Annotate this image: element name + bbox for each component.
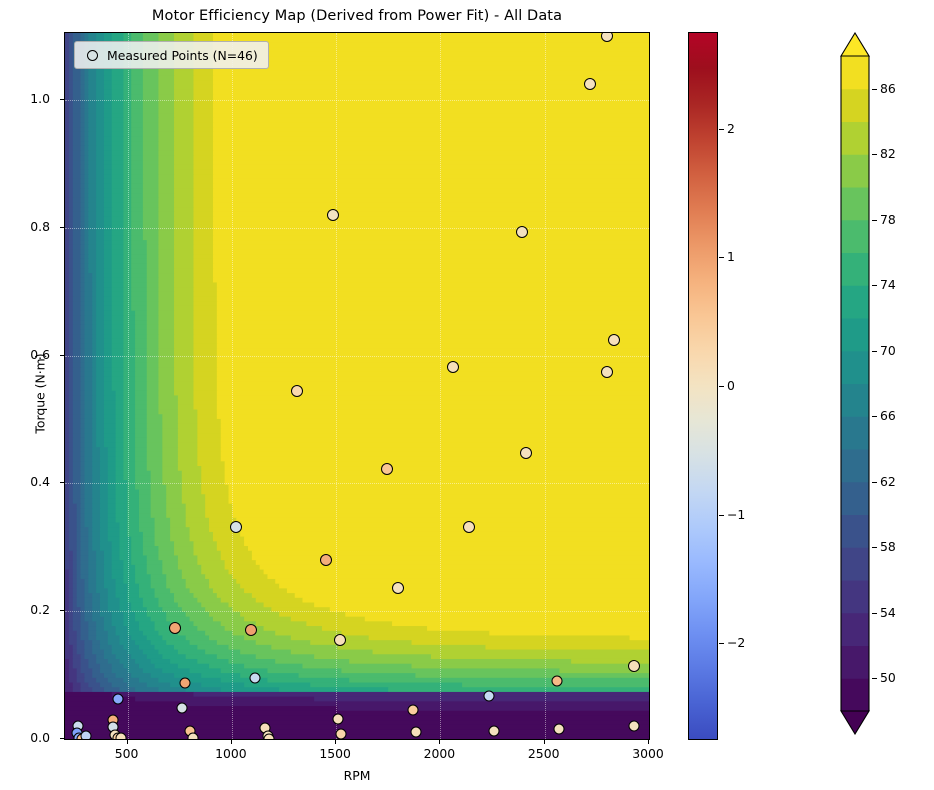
scatter-point <box>463 521 475 533</box>
x-axis-tick <box>335 740 336 744</box>
scatter-point <box>245 624 257 636</box>
colorbar-error-tick <box>719 386 724 387</box>
plot-area: Measured Points (N=46) <box>64 32 650 740</box>
y-axis-tick-label: 1.0 <box>0 91 50 106</box>
scatter-point <box>554 723 565 734</box>
colorbar-efficiency-tick-label: 58 <box>880 539 896 554</box>
legend-label: Measured Points (N=46) <box>107 48 258 63</box>
x-axis-tick-label: 1000 <box>201 746 261 761</box>
colorbar-efficiency-tick <box>872 547 877 548</box>
figure-canvas: Motor Efficiency Map (Derived from Power… <box>0 0 934 790</box>
scatter-point <box>608 334 620 346</box>
scatter-point <box>249 673 260 684</box>
scatter-point <box>327 209 339 221</box>
colorbar-efficiency-tick-label: 50 <box>880 670 896 685</box>
scatter-point <box>520 447 532 459</box>
colorbar-efficiency-tick <box>872 613 877 614</box>
efficiency-contour-field <box>65 33 649 739</box>
colorbar-error-gradient <box>689 33 717 739</box>
colorbar-efficiency-tick <box>872 416 877 417</box>
colorbar-efficiency-tick <box>872 89 877 90</box>
x-axis-tick <box>648 740 649 744</box>
scatter-point <box>392 582 404 594</box>
y-axis-tick <box>60 99 64 100</box>
scatter-point <box>601 366 613 378</box>
x-axis-tick-label: 500 <box>97 746 157 761</box>
colorbar-efficiency-tick-label: 66 <box>880 408 896 423</box>
colorbar-efficiency-tick-label: 70 <box>880 343 896 358</box>
scatter-point <box>169 622 181 634</box>
scatter-point <box>488 725 499 736</box>
scatter-point <box>629 721 640 732</box>
scatter-point <box>447 361 459 373</box>
x-axis-tick <box>127 740 128 744</box>
x-axis-tick <box>439 740 440 744</box>
colorbar-efficiency-tick-label: 74 <box>880 277 896 292</box>
colorbar-efficiency-tick <box>872 285 877 286</box>
colorbar-efficiency-tick-label: 82 <box>880 146 896 161</box>
y-axis-tick <box>60 482 64 483</box>
scatter-point <box>187 732 198 740</box>
y-axis-tick-label: 0.2 <box>0 602 50 617</box>
y-axis-tick <box>60 610 64 611</box>
colorbar-error-tick <box>719 257 724 258</box>
scatter-point <box>552 676 563 687</box>
scatter-point <box>584 78 596 90</box>
y-axis-tick <box>60 355 64 356</box>
y-axis-tick-label: 0.0 <box>0 730 50 745</box>
colorbar-error <box>688 32 718 740</box>
scatter-point <box>336 728 347 739</box>
scatter-point <box>333 714 344 725</box>
scatter-point <box>176 703 187 714</box>
legend-box[interactable]: Measured Points (N=46) <box>74 41 269 69</box>
colorbar-efficiency-tick <box>872 220 877 221</box>
colorbar-efficiency-tick-label: 86 <box>880 81 896 96</box>
x-axis-tick <box>231 740 232 744</box>
colorbar-error-tick-label: 0 <box>727 378 735 393</box>
colorbar-efficiency-tick-label: 54 <box>880 605 896 620</box>
colorbar-efficiency-tick-label: 62 <box>880 474 896 489</box>
y-axis-label: Torque (N·m) <box>33 334 48 454</box>
scatter-point <box>113 693 124 704</box>
y-axis-tick-label: 0.4 <box>0 474 50 489</box>
colorbar-error-tick-label: −1 <box>727 507 745 522</box>
colorbar-efficiency-tick <box>872 482 877 483</box>
scatter-point <box>334 634 346 646</box>
colorbar-efficiency-tick <box>872 351 877 352</box>
colorbar-error-tick-label: −2 <box>727 635 745 650</box>
y-axis-tick <box>60 227 64 228</box>
scatter-point <box>264 734 275 741</box>
scatter-point <box>320 554 332 566</box>
scatter-point <box>484 691 495 702</box>
colorbar-efficiency-bands <box>838 32 872 735</box>
chart-title: Motor Efficiency Map (Derived from Power… <box>0 8 714 24</box>
y-axis-tick-label: 0.8 <box>0 219 50 234</box>
colorbar-error-tick-label: 1 <box>727 249 735 264</box>
scatter-point <box>516 226 528 238</box>
scatter-point <box>179 677 190 688</box>
x-axis-tick-label: 2500 <box>514 746 574 761</box>
colorbar-error-tick <box>719 643 724 644</box>
x-axis-tick-label: 3000 <box>618 746 678 761</box>
scatter-point <box>116 732 127 740</box>
colorbar-error-tick-label: 2 <box>727 121 735 136</box>
x-axis-label: RPM <box>64 768 650 783</box>
scatter-point <box>381 463 393 475</box>
open-circle-marker-icon <box>87 50 98 61</box>
colorbar-efficiency-tick-label: 78 <box>880 212 896 227</box>
scatter-point <box>408 704 419 715</box>
x-axis-tick-label: 1500 <box>305 746 365 761</box>
x-axis-tick-label: 2000 <box>409 746 469 761</box>
scatter-point <box>411 726 422 737</box>
colorbar-efficiency-tick <box>872 154 877 155</box>
scatter-point <box>230 521 242 533</box>
scatter-point <box>628 660 640 672</box>
scatter-point <box>291 385 303 397</box>
x-axis-tick <box>544 740 545 744</box>
colorbar-efficiency <box>838 32 872 735</box>
colorbar-error-tick <box>719 129 724 130</box>
colorbar-error-tick <box>719 515 724 516</box>
y-axis-tick <box>60 738 64 739</box>
colorbar-efficiency-tick <box>872 678 877 679</box>
scatter-point <box>80 731 91 740</box>
